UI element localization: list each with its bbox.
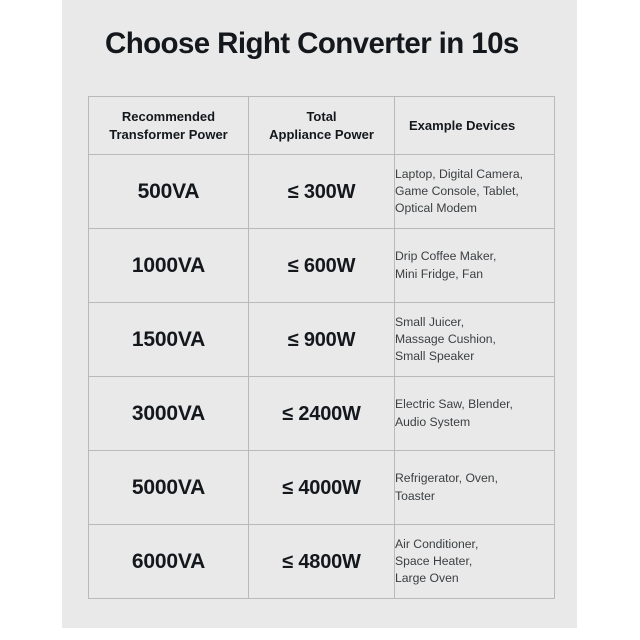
cell-transformer-power: 500VA: [89, 155, 249, 229]
cell-transformer-power: 3000VA: [89, 377, 249, 451]
cell-example-devices: Refrigerator, Oven, Toaster: [395, 451, 555, 525]
column-header-transformer-power-line2: Transformer Power: [109, 127, 228, 142]
cell-example-devices: Laptop, Digital Camera, Game Console, Ta…: [395, 155, 555, 229]
content-card: Choose Right Converter in 10s Recommende…: [62, 0, 577, 628]
device-line: Game Console, Tablet,: [395, 183, 554, 200]
column-header-appliance-power-line1: Total: [306, 109, 336, 124]
column-header-example-devices-line1: Example Devices: [409, 118, 515, 133]
cell-example-devices: Drip Coffee Maker, Mini Fridge, Fan: [395, 229, 555, 303]
table-row: 1000VA ≤ 600W Drip Coffee Maker, Mini Fr…: [89, 229, 555, 303]
device-line: Space Heater,: [395, 553, 554, 570]
device-line: Massage Cushion,: [395, 331, 554, 348]
converter-selection-table: Recommended Transformer Power Total Appl…: [88, 96, 555, 599]
device-line: Small Speaker: [395, 348, 554, 365]
device-line: Laptop, Digital Camera,: [395, 166, 554, 183]
device-line: Large Oven: [395, 570, 554, 587]
page-title: Choose Right Converter in 10s: [105, 27, 565, 61]
table-row: 500VA ≤ 300W Laptop, Digital Camera, Gam…: [89, 155, 555, 229]
column-header-transformer-power: Recommended Transformer Power: [89, 97, 249, 155]
column-header-transformer-power-line1: Recommended: [122, 109, 215, 124]
table-header-row: Recommended Transformer Power Total Appl…: [89, 97, 555, 155]
cell-appliance-power: ≤ 2400W: [249, 377, 395, 451]
cell-example-devices: Electric Saw, Blender, Audio System: [395, 377, 555, 451]
device-line: Mini Fridge, Fan: [395, 266, 554, 283]
cell-appliance-power: ≤ 600W: [249, 229, 395, 303]
device-line: Toaster: [395, 488, 554, 505]
table-row: 6000VA ≤ 4800W Air Conditioner, Space He…: [89, 525, 555, 599]
device-line: Refrigerator, Oven,: [395, 470, 554, 487]
cell-appliance-power: ≤ 900W: [249, 303, 395, 377]
table-row: 1500VA ≤ 900W Small Juicer, Massage Cush…: [89, 303, 555, 377]
column-header-example-devices: Example Devices: [395, 97, 555, 155]
cell-example-devices: Small Juicer, Massage Cushion, Small Spe…: [395, 303, 555, 377]
column-header-appliance-power-line2: Appliance Power: [269, 127, 374, 142]
column-header-appliance-power: Total Appliance Power: [249, 97, 395, 155]
cell-transformer-power: 1500VA: [89, 303, 249, 377]
device-line: Electric Saw, Blender,: [395, 396, 554, 413]
table-row: 3000VA ≤ 2400W Electric Saw, Blender, Au…: [89, 377, 555, 451]
cell-appliance-power: ≤ 300W: [249, 155, 395, 229]
cell-example-devices: Air Conditioner, Space Heater, Large Ove…: [395, 525, 555, 599]
cell-transformer-power: 1000VA: [89, 229, 249, 303]
cell-appliance-power: ≤ 4800W: [249, 525, 395, 599]
cell-transformer-power: 5000VA: [89, 451, 249, 525]
device-line: Small Juicer,: [395, 314, 554, 331]
device-line: Audio System: [395, 414, 554, 431]
table-row: 5000VA ≤ 4000W Refrigerator, Oven, Toast…: [89, 451, 555, 525]
device-line: Drip Coffee Maker,: [395, 248, 554, 265]
device-line: Optical Modem: [395, 200, 554, 217]
cell-appliance-power: ≤ 4000W: [249, 451, 395, 525]
cell-transformer-power: 6000VA: [89, 525, 249, 599]
device-line: Air Conditioner,: [395, 536, 554, 553]
